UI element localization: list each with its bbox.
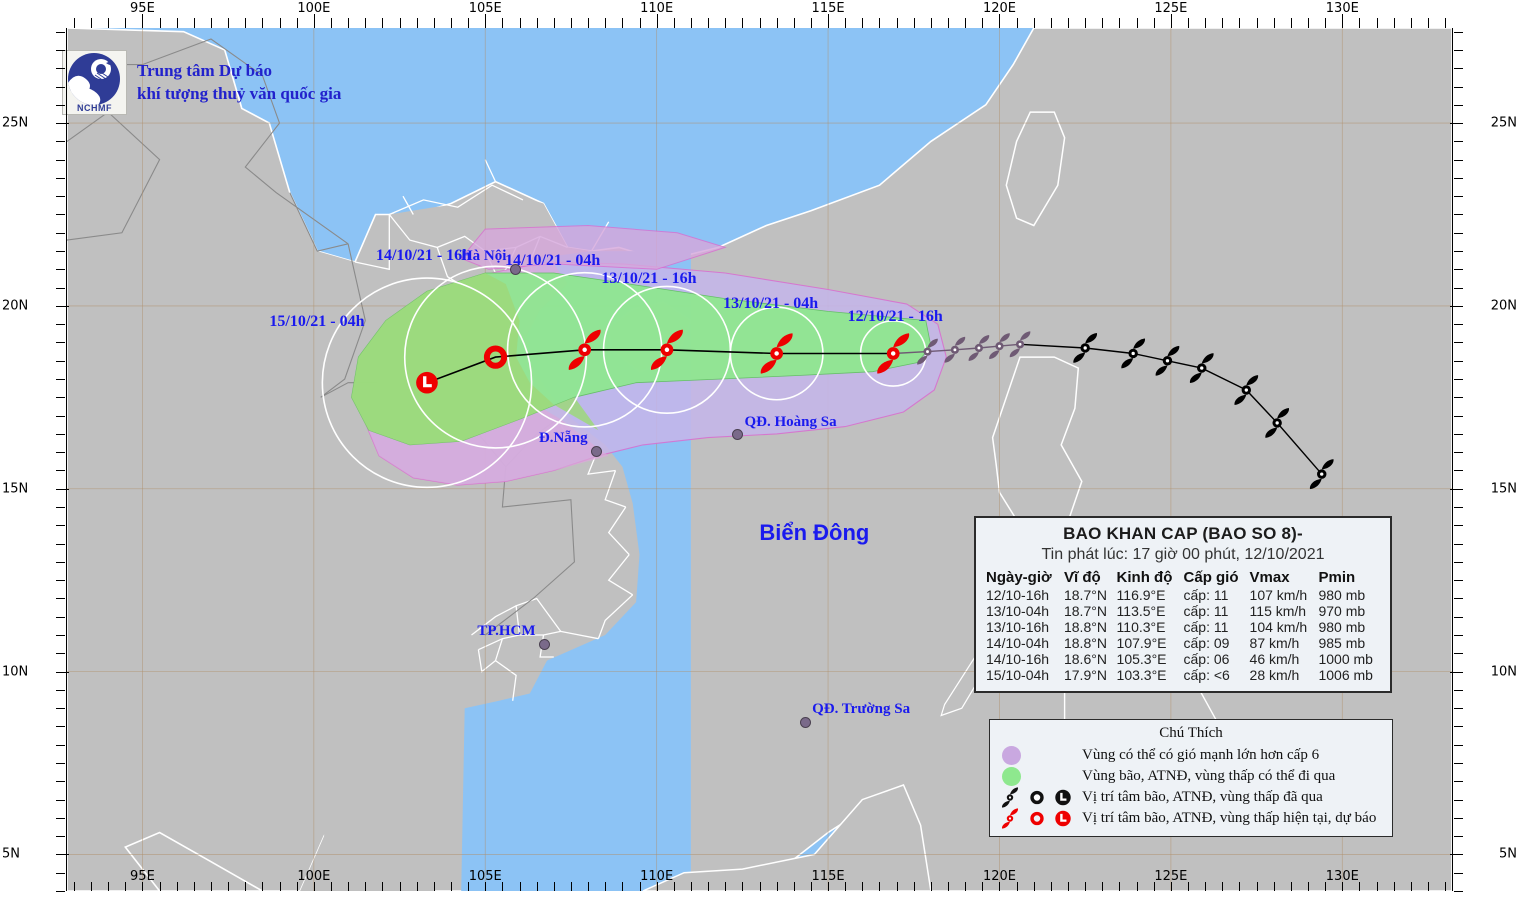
axis-tick (1450, 854, 1463, 855)
legend-row: Vùng có thể có gió mạnh lớn hơn cấp 6 (998, 745, 1384, 766)
legend-symbol (998, 808, 1021, 829)
axis-tick (862, 882, 863, 891)
legend-symbols (998, 808, 1074, 829)
axis-tick (914, 882, 915, 891)
axis-tick (742, 882, 743, 891)
legend-label: Vùng bão, ATNĐ, vùng thấp có thể đi qua (1082, 768, 1335, 785)
axis-tick (56, 763, 65, 764)
axis-tick (1428, 882, 1429, 891)
axis-tick (1450, 489, 1463, 490)
table-cell-pmin: 1000 mb (1316, 651, 1382, 667)
axis-tick (56, 141, 65, 142)
axis-tick (1454, 105, 1463, 106)
axis-label-lon: 130E (1326, 1, 1359, 16)
axis-tick (520, 882, 521, 891)
table-cell-time: 12/10-16h (984, 587, 1062, 603)
axis-label-lon: 110E (640, 1, 673, 16)
axis-tick (177, 882, 178, 891)
axis-tick (56, 726, 65, 727)
axis-tick (1119, 882, 1120, 891)
axis-tick (1359, 18, 1360, 28)
storm-info-panel: BAO KHAN CAP (BAO SO 8)- Tin phát lúc: 1… (974, 516, 1392, 693)
axis-tick (417, 18, 418, 28)
axis-tick (56, 653, 65, 654)
axis-tick (1454, 470, 1463, 471)
axis-tick (965, 882, 966, 891)
axis-tick (1171, 14, 1172, 28)
axis-tick (1454, 452, 1463, 453)
axis-tick (56, 178, 65, 179)
axis-tick (1454, 635, 1463, 636)
axis-tick (56, 489, 69, 490)
axis-tick (1291, 18, 1292, 28)
axis-tick (314, 14, 315, 28)
axis-label-lat: 15N (1491, 481, 1517, 496)
city-marker-dot (800, 717, 811, 728)
axis-tick (1454, 745, 1463, 746)
axis-tick (125, 882, 126, 891)
axis-tick (554, 18, 555, 28)
legend-row: Vùng bão, ATNĐ, vùng thấp có thể đi qua (998, 766, 1384, 787)
legend-green-disc-icon (1002, 767, 1021, 786)
axis-tick (1454, 836, 1463, 837)
axis-tick (1205, 18, 1206, 28)
logo-line-2: khí tượng thuỷ văn quốc gia (137, 83, 341, 106)
axis-tick (1119, 18, 1120, 28)
axis-tick (1454, 434, 1463, 435)
nchmf-logo: NCHMF Trung tâm Dự báo khí tượng thuỷ vă… (62, 50, 341, 115)
axis-label-lon: 125E (1154, 869, 1187, 917)
axis-tick (691, 882, 692, 891)
axis-tick (1137, 18, 1138, 28)
axis-tick (56, 324, 65, 325)
axis-tick (1454, 196, 1463, 197)
table-cell-pmin: 980 mb (1316, 587, 1382, 603)
axis-label-lon: 115E (812, 1, 845, 16)
axis-tick (348, 882, 349, 891)
axis-tick (897, 18, 898, 28)
axis-tick (400, 882, 401, 891)
axis-tick (1274, 18, 1275, 28)
table-cell-vmax: 87 km/h (1248, 635, 1317, 651)
legend-purple-disc-icon (1002, 746, 1021, 765)
axis-tick (91, 18, 92, 28)
axis-tick (56, 507, 65, 508)
axis-tick (1394, 18, 1395, 28)
axis-tick (520, 18, 521, 28)
legend-low-icon (1056, 811, 1071, 826)
axis-tick (1454, 379, 1463, 380)
axis-tick (999, 14, 1000, 28)
axis-tick (502, 18, 503, 28)
axis-tick (760, 18, 761, 28)
axis-tick (1377, 882, 1378, 891)
axis-label-lon: 100E (297, 1, 330, 16)
axis-tick (982, 18, 983, 28)
axis-tick (56, 379, 65, 380)
axis-tick (1222, 18, 1223, 28)
axis-tick (1454, 416, 1463, 417)
axis-tick (1454, 562, 1463, 563)
table-header-row: Ngày-giờVĩ độKinh độCấp gióVmaxPmin (984, 569, 1382, 587)
axis-tick (1428, 18, 1429, 28)
axis-tick (657, 14, 658, 28)
axis-tick (56, 562, 65, 563)
axis-tick (897, 882, 898, 891)
table-cell-vmax: 28 km/h (1248, 667, 1317, 683)
axis-tick (56, 580, 65, 581)
table-cell-lat: 18.8°N (1062, 619, 1115, 635)
table-cell-time: 14/10-16h (984, 651, 1062, 667)
table-column-header: Kinh độ (1115, 569, 1182, 587)
axis-tick (1411, 882, 1412, 891)
axis-tick (56, 87, 65, 88)
axis-tick (56, 68, 65, 69)
axis-tick (56, 745, 65, 746)
axis-tick (742, 18, 743, 28)
axis-tick (1454, 653, 1463, 654)
axis-tick (56, 690, 65, 691)
legend-symbols (998, 746, 1074, 765)
table-cell-cat: cấp: <6 (1182, 667, 1248, 683)
table-column-header: Pmin (1316, 569, 1382, 587)
axis-tick (56, 891, 65, 892)
axis-label-lon: 100E (297, 869, 330, 917)
axis-tick (794, 882, 795, 891)
axis-label-lat: 5N (2, 847, 20, 862)
axis-tick (1450, 306, 1463, 307)
axis-tick (948, 18, 949, 28)
legend-symbols (998, 767, 1074, 786)
axis-tick (434, 18, 435, 28)
table-column-header: Cấp gió (1182, 569, 1248, 587)
logo-abbr: NCHMF (63, 103, 126, 113)
axis-tick (879, 882, 880, 891)
axis-tick (1188, 18, 1189, 28)
city-marker-dot (510, 264, 521, 275)
city-marker-dot (591, 446, 602, 457)
axis-tick (1308, 882, 1309, 891)
axis-tick (56, 397, 65, 398)
axis-tick (382, 882, 383, 891)
axis-tick (1454, 891, 1463, 892)
axis-tick (622, 882, 623, 891)
legend-low-icon (1056, 790, 1071, 805)
table-row: 14/10-16h18.6°N105.3°Ecấp: 0646 km/h1000… (984, 651, 1382, 667)
logo-line-1: Trung tâm Dự báo (137, 60, 341, 83)
axis-label-lat: 5N (1499, 847, 1517, 862)
axis-tick (1102, 18, 1103, 28)
axis-tick (56, 672, 69, 673)
axis-tick (56, 470, 65, 471)
axis-tick (56, 544, 65, 545)
axis-tick (211, 18, 212, 28)
table-cell-lat: 18.6°N (1062, 651, 1115, 667)
typhoon-forecast-map: 95E100E105E110E115E120E125E130E (0, 0, 1519, 919)
axis-label-lon: 125E (1154, 1, 1187, 16)
axis-tick (1454, 361, 1463, 362)
axis-tick (1454, 324, 1463, 325)
axis-tick (1454, 580, 1463, 581)
axis-tick (1051, 882, 1052, 891)
axis-tick (674, 18, 675, 28)
axis-tick (56, 233, 65, 234)
table-row: 14/10-04h18.8°N107.9°Ecấp: 0987 km/h985 … (984, 635, 1382, 651)
axis-tick (56, 781, 65, 782)
axis-label-lat: 20N (2, 298, 28, 313)
table-cell-cat: cấp: 09 (1182, 635, 1248, 651)
axis-tick (142, 14, 143, 28)
axis-tick (56, 617, 65, 618)
axis-tick (571, 882, 572, 891)
axis-tick (794, 18, 795, 28)
axis-tick (434, 882, 435, 891)
axis-tick (931, 882, 932, 891)
legend-panel: Chú Thích Vùng có thể có gió mạnh lớn hơ… (989, 719, 1393, 837)
legend-symbol (1025, 787, 1048, 808)
axis-tick (1257, 882, 1258, 891)
axis-tick (588, 18, 589, 28)
axis-tick (1454, 160, 1463, 161)
table-row: 13/10-04h18.7°N113.5°Ecấp: 11115 km/h970… (984, 603, 1382, 619)
axis-tick (1239, 18, 1240, 28)
axis-tick (56, 269, 65, 270)
axis-tick (365, 18, 366, 28)
axis-label-lat: 10N (2, 664, 28, 679)
axis-tick (56, 635, 65, 636)
axis-tick (56, 105, 65, 106)
legend-label: Vị trí tâm bão, ATNĐ, vùng thấp đã qua (1082, 789, 1323, 806)
axis-tick (1308, 18, 1309, 28)
legend-symbol (1051, 787, 1074, 808)
axis-tick (1454, 342, 1463, 343)
axis-tick (108, 882, 109, 891)
axis-tick (1068, 882, 1069, 891)
axis-tick (828, 14, 829, 28)
axis-tick (879, 18, 880, 28)
storm-headline: BAO KHAN CAP (BAO SO 8)- (984, 524, 1382, 544)
axis-tick (1342, 14, 1343, 28)
axis-tick (1017, 18, 1018, 28)
table-cell-lon: 105.3°E (1115, 651, 1182, 667)
legend-depression-icon (1032, 814, 1042, 824)
table-cell-time: 13/10-16h (984, 619, 1062, 635)
axis-tick (297, 18, 298, 28)
axis-tick (914, 18, 915, 28)
table-cell-vmax: 107 km/h (1248, 587, 1317, 603)
axis-tick (1454, 617, 1463, 618)
legend-label: Vị trí tâm bão, ATNĐ, vùng thấp hiện tại… (1082, 810, 1376, 827)
axis-label-lat: 25N (1491, 116, 1517, 131)
axis-tick (56, 160, 65, 161)
axis-tick (622, 18, 623, 28)
axis-tick (1257, 18, 1258, 28)
axis-tick (331, 882, 332, 891)
axis-tick (588, 882, 589, 891)
axis-tick (262, 882, 263, 891)
logo-text: Trung tâm Dự báo khí tượng thuỷ văn quốc… (137, 60, 341, 106)
storm-forecast-table: Ngày-giờVĩ độKinh độCấp gióVmaxPmin 12/1… (984, 569, 1382, 683)
axis-tick (56, 32, 65, 33)
axis-tick (1454, 214, 1463, 215)
axis-tick (56, 818, 65, 819)
axis-tick (228, 18, 229, 28)
axis-tick (1450, 672, 1463, 673)
axis-tick (382, 18, 383, 28)
table-cell-time: 15/10-04h (984, 667, 1062, 683)
axis-tick (571, 18, 572, 28)
axis-tick (365, 882, 366, 891)
table-cell-lat: 17.9°N (1062, 667, 1115, 683)
axis-tick (56, 800, 65, 801)
table-cell-time: 13/10-04h (984, 603, 1062, 619)
axis-tick (845, 18, 846, 28)
axis-label-lon: 120E (983, 1, 1016, 16)
axis-label-lat: 25N (2, 116, 28, 131)
legend-symbol (998, 787, 1021, 808)
legend-symbol (1051, 808, 1074, 829)
axis-tick (348, 18, 349, 28)
axis-tick (56, 525, 65, 526)
legend-symbol (1025, 808, 1048, 829)
table-cell-pmin: 980 mb (1316, 619, 1382, 635)
axis-tick (1068, 18, 1069, 28)
axis-tick (56, 452, 65, 453)
axis-tick (74, 18, 75, 28)
map-frame-right (1452, 28, 1453, 891)
axis-tick (1239, 882, 1240, 891)
axis-label-lat: 20N (1491, 298, 1517, 313)
axis-tick (1454, 288, 1463, 289)
axis-tick (811, 18, 812, 28)
axis-tick (280, 18, 281, 28)
axis-tick (1454, 818, 1463, 819)
table-cell-lon: 103.3°E (1115, 667, 1182, 683)
axis-tick (451, 882, 452, 891)
axis-tick (56, 196, 65, 197)
axis-tick (1454, 763, 1463, 764)
axis-tick (1411, 18, 1412, 28)
table-row: 12/10-16h18.7°N116.9°Ecấp: 11107 km/h980… (984, 587, 1382, 603)
axis-tick (760, 882, 761, 891)
axis-tick (777, 18, 778, 28)
axis-tick (468, 18, 469, 28)
axis-tick (948, 882, 949, 891)
axis-tick (56, 123, 69, 124)
axis-tick (1291, 882, 1292, 891)
axis-tick (1454, 68, 1463, 69)
nchmf-emblem-icon: NCHMF (62, 50, 127, 115)
axis-label-lon: 120E (983, 869, 1016, 917)
axis-label-lon: 95E (130, 869, 155, 917)
axis-tick (1137, 882, 1138, 891)
axis-tick (1085, 882, 1086, 891)
axis-tick (1450, 123, 1463, 124)
table-cell-lat: 18.7°N (1062, 603, 1115, 619)
table-cell-pmin: 970 mb (1316, 603, 1382, 619)
axis-label-lat: 15N (2, 481, 28, 496)
axis-tick (74, 882, 75, 891)
axis-tick (537, 18, 538, 28)
legend-typhoon-icon (1002, 787, 1018, 807)
axis-tick (177, 18, 178, 28)
axis-tick (56, 416, 65, 417)
axis-tick (1394, 882, 1395, 891)
axis-tick (125, 18, 126, 28)
storm-issued-time: Tin phát lúc: 17 giờ 00 phút, 12/10/2021 (984, 546, 1382, 564)
axis-tick (1454, 873, 1463, 874)
axis-tick (417, 882, 418, 891)
axis-tick (245, 882, 246, 891)
legend-title: Chú Thích (998, 725, 1384, 742)
axis-tick (605, 18, 606, 28)
axis-tick (537, 882, 538, 891)
legend-row: Vị trí tâm bão, ATNĐ, vùng thấp đã qua (998, 787, 1384, 808)
axis-tick (1454, 141, 1463, 142)
legend-symbols (998, 787, 1074, 808)
table-cell-cat: cấp: 11 (1182, 603, 1248, 619)
axis-tick (1102, 882, 1103, 891)
axis-tick (1454, 690, 1463, 691)
axis-tick (56, 251, 65, 252)
axis-label-lat: 10N (1491, 664, 1517, 679)
table-cell-vmax: 115 km/h (1248, 603, 1317, 619)
axis-tick (1454, 269, 1463, 270)
axis-tick (56, 342, 65, 343)
axis-label-lon: 115E (812, 869, 845, 917)
axis-tick (845, 882, 846, 891)
table-cell-lon: 116.9°E (1115, 587, 1182, 603)
axis-tick (160, 882, 161, 891)
axis-tick (691, 18, 692, 28)
axis-tick (1454, 781, 1463, 782)
axis-tick (228, 882, 229, 891)
table-cell-vmax: 46 km/h (1248, 651, 1317, 667)
axis-tick (1085, 18, 1086, 28)
axis-tick (1325, 18, 1326, 28)
axis-tick (1454, 397, 1463, 398)
axis-tick (1359, 882, 1360, 891)
axis-tick (56, 50, 65, 51)
axis-tick (1454, 544, 1463, 545)
axis-tick (56, 306, 69, 307)
axis-tick (1454, 32, 1463, 33)
axis-tick (1205, 882, 1206, 891)
table-cell-pmin: 1006 mb (1316, 667, 1382, 683)
axis-tick (1034, 882, 1035, 891)
axis-tick (777, 882, 778, 891)
axis-tick (451, 18, 452, 28)
axis-tick (931, 18, 932, 28)
axis-tick (1274, 882, 1275, 891)
axis-tick (1454, 800, 1463, 801)
axis-tick (1454, 525, 1463, 526)
axis-tick (280, 882, 281, 891)
axis-tick (211, 882, 212, 891)
axis-tick (1454, 708, 1463, 709)
axis-label-lon: 130E (1326, 869, 1359, 917)
table-column-header: Vĩ độ (1062, 569, 1115, 587)
table-row: 13/10-16h18.8°N110.3°Ecấp: 11104 km/h980… (984, 619, 1382, 635)
axis-tick (91, 882, 92, 891)
axis-tick (640, 18, 641, 28)
axis-tick (1454, 50, 1463, 51)
axis-tick (1445, 18, 1446, 28)
axis-tick (108, 18, 109, 28)
legend-depression-icon (1032, 793, 1042, 803)
axis-tick (56, 854, 69, 855)
axis-tick (56, 361, 65, 362)
